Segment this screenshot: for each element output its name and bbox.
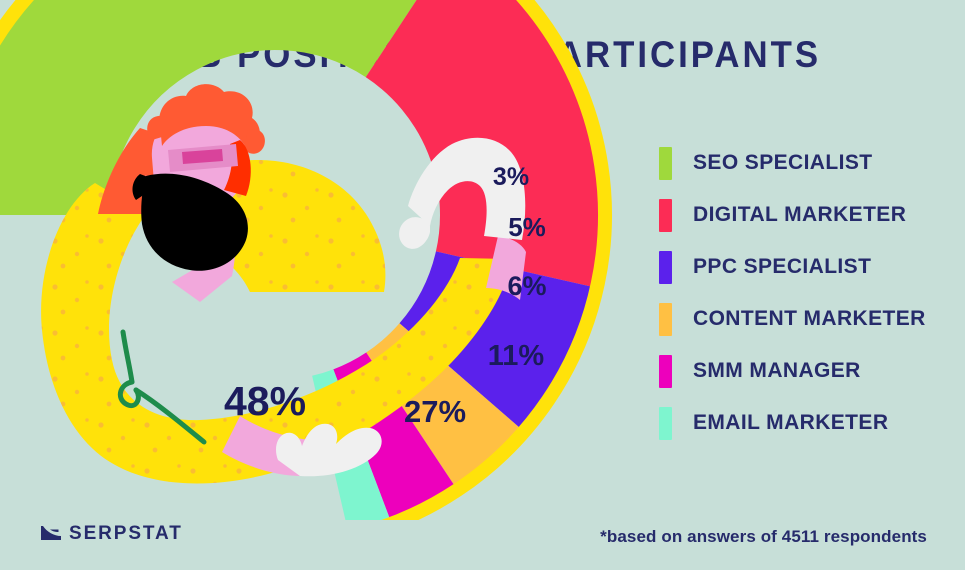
brand-name: SERPSTAT [69,523,183,545]
legend-label-digital-marketer: DIGITAL MARKETER [693,203,906,227]
slice-label-digital: 27% [404,394,466,429]
hand-top-thumb [399,217,430,249]
slice-label-email: 3% [493,163,529,191]
legend-item-smm-manager[interactable]: SMM MANAGER [659,345,959,397]
slice-label-seo: 48% [224,378,306,424]
brand-logo: SERPSTAT [40,523,183,545]
legend-item-digital-marketer[interactable]: DIGITAL MARKETER [659,189,959,241]
infographic-canvas: JOB POSITIONS OF PARTICIPANTS [0,0,965,570]
legend-swatch-smm-manager [659,355,672,388]
legend-swatch-digital-marketer [659,199,672,232]
slice-label-content: 6% [507,271,546,301]
legend-item-ppc-specialist[interactable]: PPC SPECIALIST [659,241,959,293]
slice-label-smm: 5% [508,212,546,242]
legend-label-ppc-specialist: PPC SPECIALIST [693,255,871,279]
legend-item-email-marketer[interactable]: EMAIL MARKETER [659,397,959,449]
footnote: *based on answers of 4511 respondents [600,527,927,547]
legend-swatch-seo-specialist [659,147,672,180]
serpstat-swoosh-icon [40,525,62,543]
legend-label-seo-specialist: SEO SPECIALIST [693,151,872,175]
legend-swatch-ppc-specialist [659,251,672,284]
legend-label-content-marketer: CONTENT MARKETER [693,307,926,331]
legend-swatch-content-marketer [659,303,672,336]
dress-cord [123,332,132,382]
legend-label-email-marketer: EMAIL MARKETER [693,411,888,435]
legend-label-smm-manager: SMM MANAGER [693,359,861,383]
legend: SEO SPECIALIST DIGITAL MARKETER PPC SPEC… [659,137,959,449]
chart-svg: #chart-svg .donut-rot { transform-box: v… [0,0,660,520]
legend-swatch-email-marketer [659,407,672,440]
legend-item-content-marketer[interactable]: CONTENT MARKETER [659,293,959,345]
legend-item-seo-specialist[interactable]: SEO SPECIALIST [659,137,959,189]
donut-chart: #chart-svg .donut-rot { transform-box: v… [0,0,660,520]
slice-label-ppc: 11% [488,340,545,372]
